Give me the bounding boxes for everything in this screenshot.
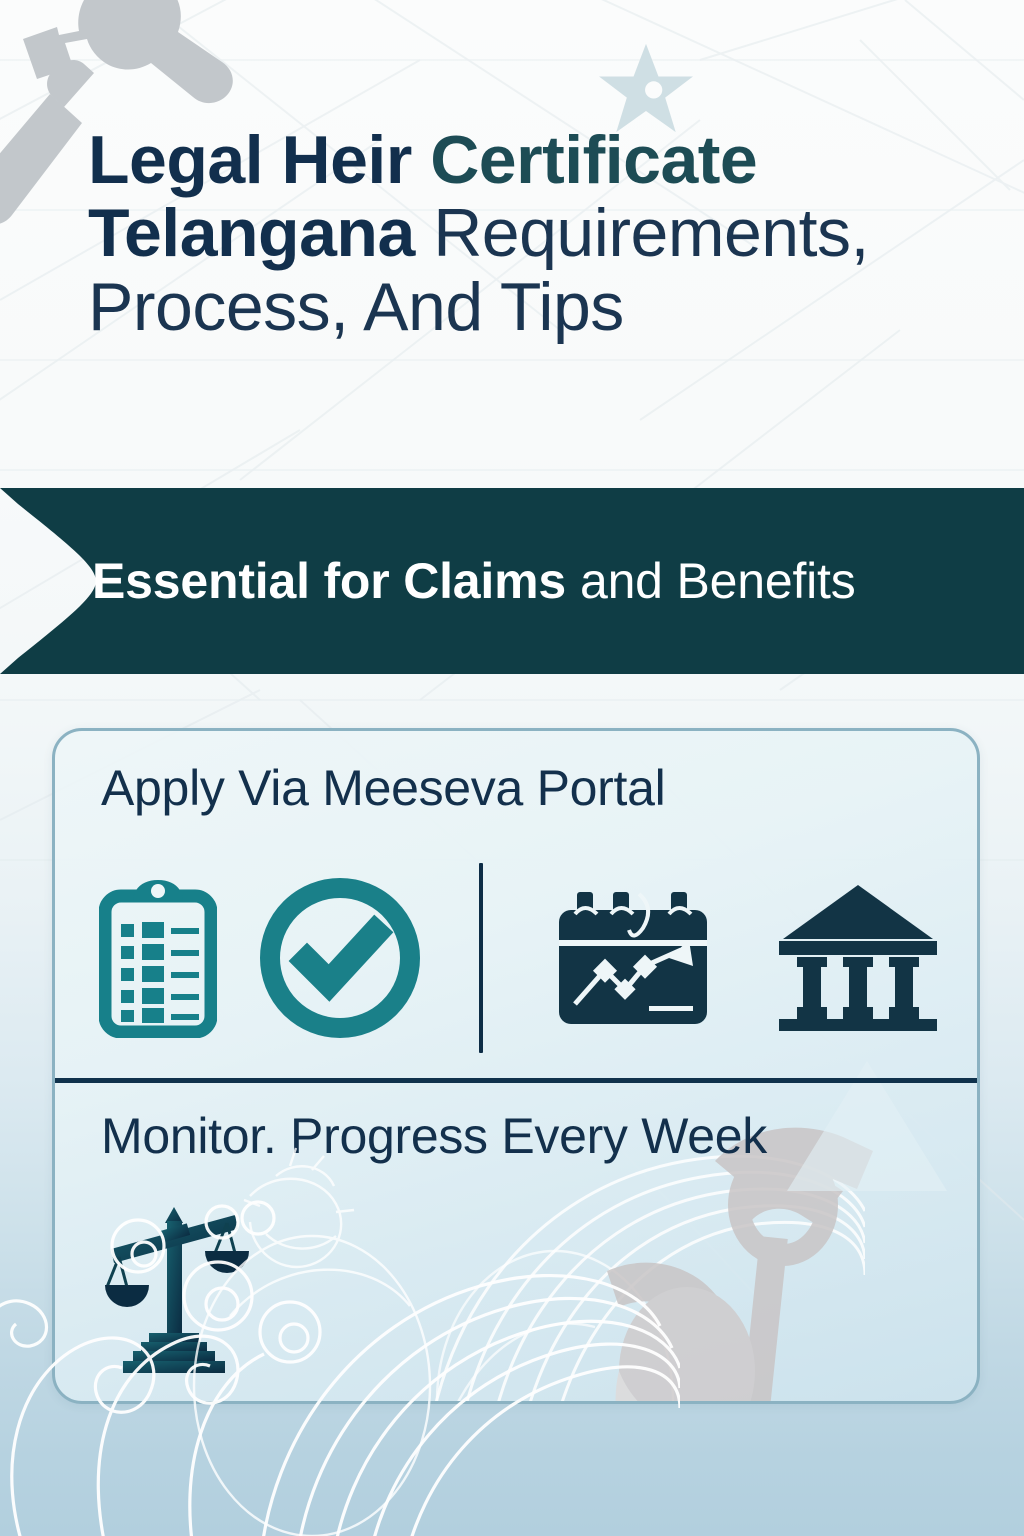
banner-regular-text: and Benefits <box>580 552 856 610</box>
government-building-icon <box>773 883 943 1033</box>
check-circle-icon <box>259 877 421 1039</box>
title-line-1: Legal Heir Certificate <box>88 124 968 197</box>
info-card: Apply Via Meeseva Portal <box>52 728 980 1404</box>
title-part-telangana: Telangana <box>88 195 415 271</box>
title-part-legal-heir: Legal Heir <box>88 122 412 198</box>
card-section-apply: Apply Via Meeseva Portal <box>55 731 977 1078</box>
scales-of-justice-icon <box>99 1201 249 1381</box>
star-icon <box>598 42 694 134</box>
title-part-process-tips: Process, And Tips <box>88 269 624 345</box>
banner-text: Essential for Claims and Benefits <box>92 488 856 674</box>
vertical-divider <box>479 863 483 1053</box>
poster-canvas: Legal Heir Certificate Telangana Require… <box>0 0 1024 1536</box>
section-heading-monitor: Monitor. Progress Every Week <box>101 1107 767 1165</box>
banner-bold-text: Essential for Claims <box>92 552 566 610</box>
title-line-2: Telangana Requirements, <box>88 197 968 270</box>
calendar-growth-chart-icon <box>553 888 713 1028</box>
title-part-certificate: Certificate <box>430 122 757 198</box>
section-1-icon-row <box>99 863 943 1053</box>
clipboard-checklist-icon <box>99 878 217 1038</box>
title-part-requirements: Requirements, <box>433 195 869 271</box>
banner-ribbon: Essential for Claims and Benefits <box>0 488 1024 674</box>
page-title: Legal Heir Certificate Telangana Require… <box>88 124 968 344</box>
section-heading-apply: Apply Via Meeseva Portal <box>101 759 665 817</box>
card-section-monitor: Monitor. Progress Every Week <box>55 1083 977 1404</box>
title-line-3: Process, And Tips <box>88 271 968 344</box>
section-2-icon-row <box>99 1201 249 1381</box>
